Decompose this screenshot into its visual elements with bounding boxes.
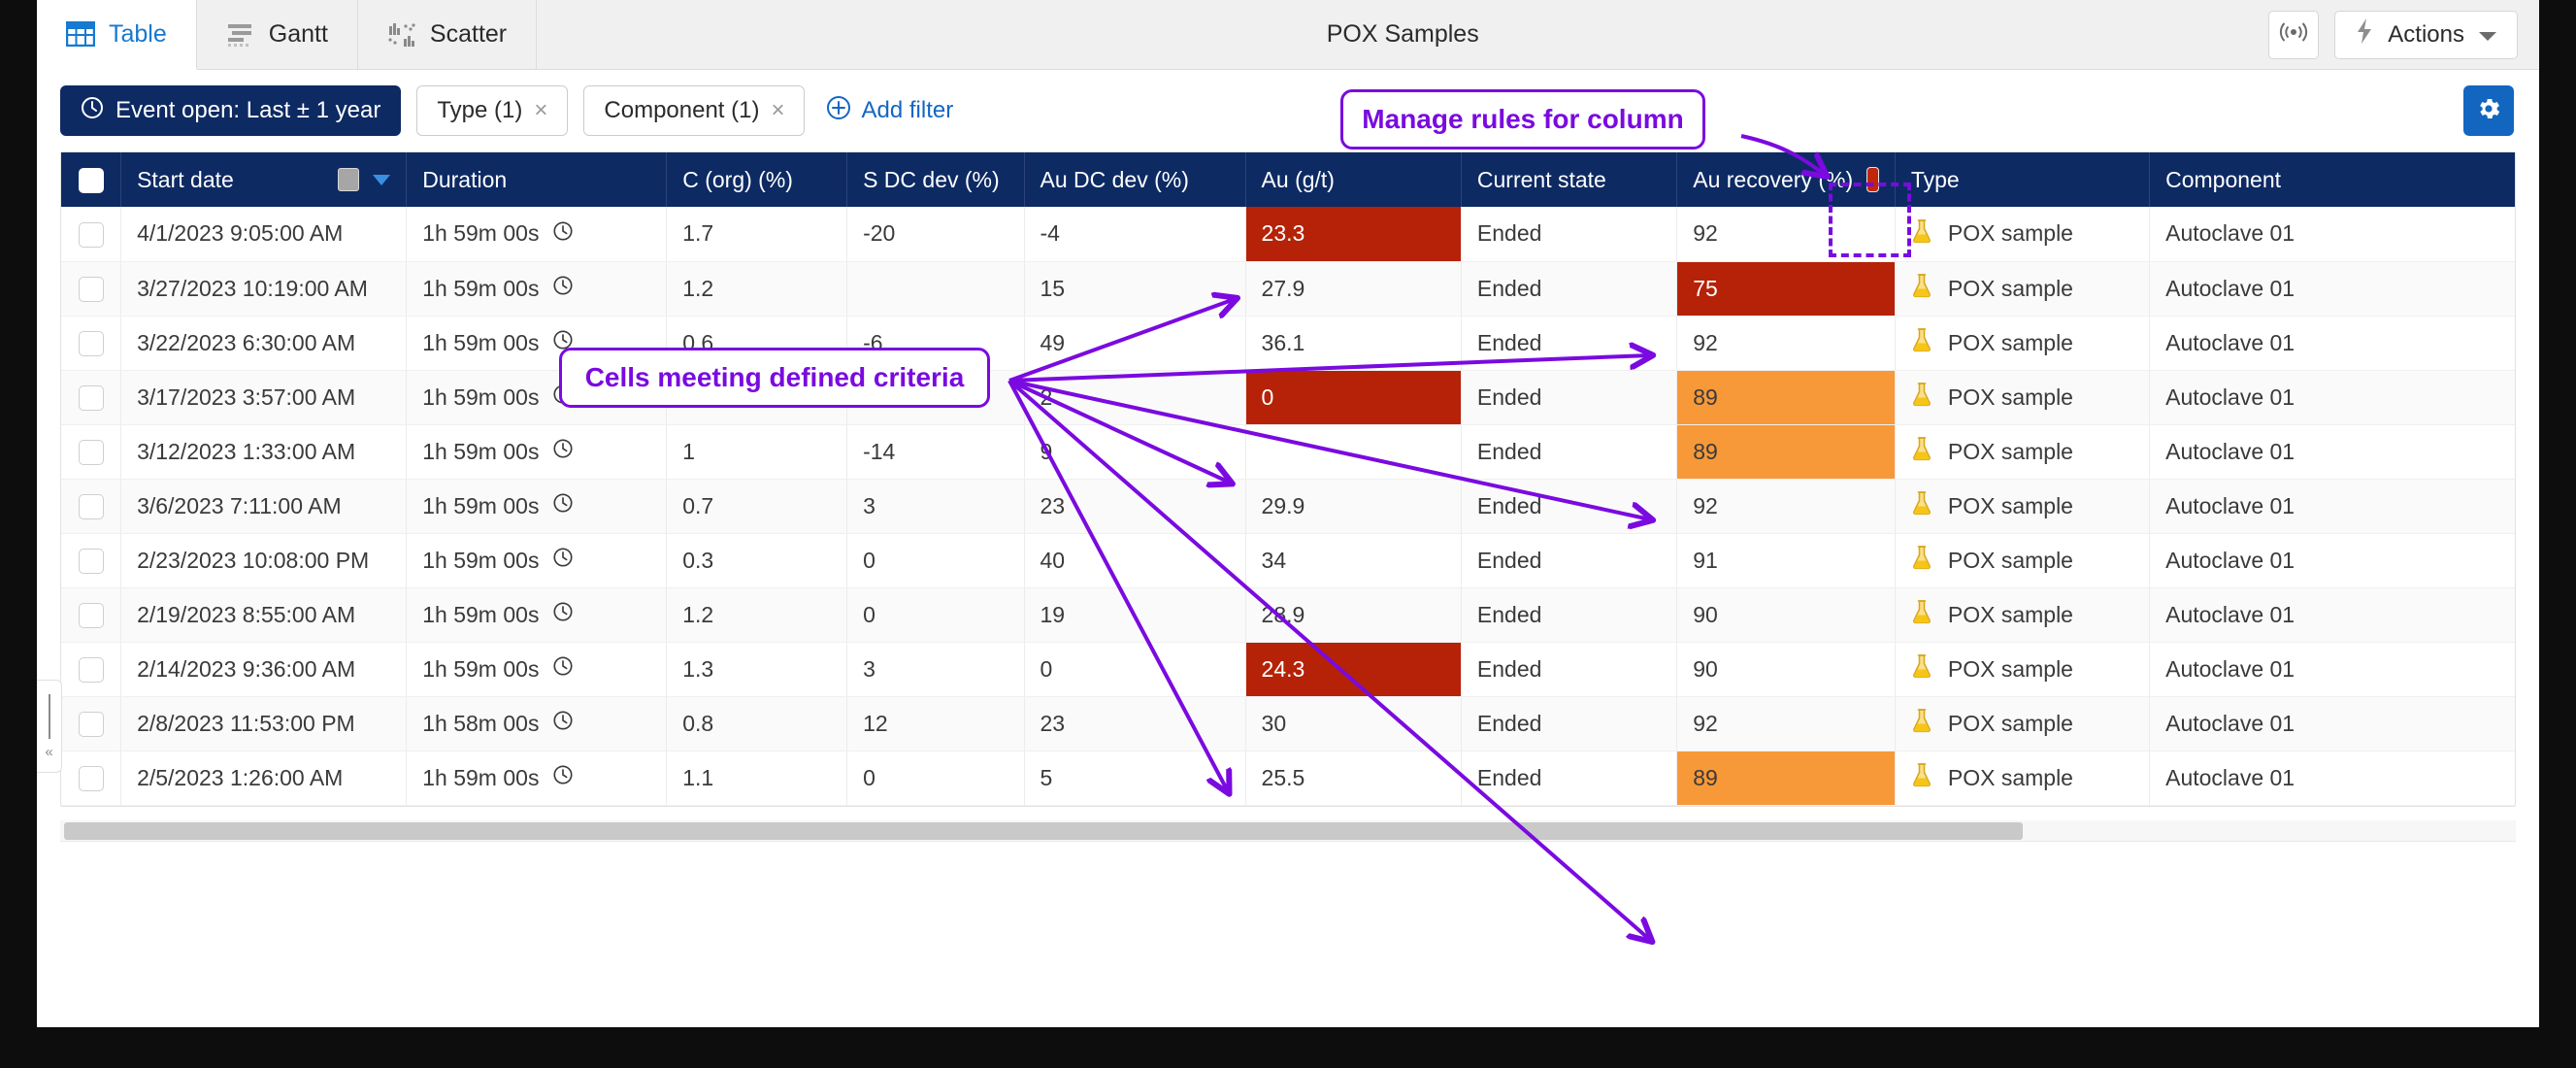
cell-type: POX sample [1895,533,2149,587]
cell-duration-text: 1h 59m 00s [422,384,539,411]
row-select-cell [61,316,121,370]
cell-current-state: Ended [1461,207,1676,261]
column-header-component-label: Component [2165,167,2281,192]
clock-icon [552,220,574,248]
row-checkbox[interactable] [79,385,104,411]
cell-au-recovery: 89 [1677,751,1896,805]
cell-au: 23.3 [1245,207,1461,261]
cell-duration-text: 1h 59m 00s [422,330,539,356]
close-icon[interactable]: × [771,99,784,122]
page-title-text: POX Samples [1327,20,1479,49]
chevron-down-icon [2478,21,2497,49]
plus-circle-icon [826,95,851,127]
table-row[interactable]: 3/6/2023 7:11:00 AM1h 59m 00s0.732329.9E… [61,479,2515,533]
column-header-au-recovery-label: Au recovery (%) [1693,167,1853,193]
filter-chip-type[interactable]: Type (1) × [416,85,568,136]
cell-au-dc-dev: 19 [1024,587,1245,642]
cell-au: 24.3 [1245,642,1461,696]
top-bar-actions: Actions [2268,0,2539,69]
table-row[interactable]: 2/19/2023 8:55:00 AM1h 59m 00s1.201928.9… [61,587,2515,642]
table-body: 4/1/2023 9:05:00 AM1h 59m 00s1.7-20-423.… [61,207,2515,805]
drag-bar-icon [49,694,50,739]
cell-au-dc-dev: 15 [1024,261,1245,316]
cell-current-state: Ended [1461,696,1676,751]
cell-au-recovery: 90 [1677,642,1896,696]
cell-current-state: Ended [1461,751,1676,805]
actions-button-label: Actions [2388,21,2464,49]
flask-icon [1911,218,1932,250]
sort-descending-icon[interactable] [373,175,390,185]
cell-duration-text: 1h 59m 00s [422,276,539,302]
clock-icon [552,384,574,411]
table-row[interactable]: 3/22/2023 6:30:00 AM1h 59m 00s0.6-64936.… [61,316,2515,370]
cell-type: POX sample [1895,261,2149,316]
cell-type: POX sample [1895,207,2149,261]
cell-start-date: 3/27/2023 10:19:00 AM [121,261,407,316]
table-icon [66,21,95,47]
view-tabstrip: Table Gantt [37,0,537,69]
cell-component: Autoclave 01 [2150,751,2515,805]
cell-duration: 1h 59m 00s [407,479,667,533]
cell-type: POX sample [1895,316,2149,370]
cell-au-recovery: 91 [1677,533,1896,587]
cell-s-dc-dev: -20 [847,207,1024,261]
cell-au: 0 [1245,370,1461,424]
row-checkbox[interactable] [79,440,104,465]
cell-component: Autoclave 01 [2150,370,2515,424]
row-select-cell [61,370,121,424]
row-select-cell [61,642,121,696]
grey-square-icon[interactable] [338,168,359,191]
table-row[interactable]: 3/12/2023 1:33:00 AM1h 59m 00s1-149Ended… [61,424,2515,479]
column-header-au-dc-dev-label: Au DC dev (%) [1040,167,1189,192]
cell-au-recovery: 89 [1677,424,1896,479]
cell-start-date: 2/19/2023 8:55:00 AM [121,587,407,642]
clock-icon [552,764,574,791]
table-row[interactable]: 3/17/2023 3:57:00 AM1h 59m 00s1.7-2020En… [61,370,2515,424]
column-header-duration[interactable]: Duration [407,152,667,207]
column-header-type-label: Type [1911,167,1960,192]
cell-type: POX sample [1895,642,2149,696]
cell-component: Autoclave 01 [2150,207,2515,261]
row-checkbox[interactable] [79,494,104,519]
lightning-icon [2355,17,2374,51]
cell-au-dc-dev: 49 [1024,316,1245,370]
flask-icon [1911,762,1932,793]
cell-s-dc-dev: 3 [847,479,1024,533]
cell-au [1245,424,1461,479]
cell-c-org: 1.7 [667,207,847,261]
scatter-icon [387,22,416,48]
column-header-duration-label: Duration [422,167,507,192]
cell-au-dc-dev: 2 [1024,370,1245,424]
cell-type-text: POX sample [1948,220,2073,247]
cell-duration: 1h 59m 00s [407,261,667,316]
gear-icon [2475,95,2502,127]
cell-type: POX sample [1895,479,2149,533]
row-select-cell [61,533,121,587]
horizontal-scrollbar[interactable] [60,820,2516,842]
cell-duration: 1h 59m 00s [407,370,667,424]
table-row[interactable]: 2/8/2023 11:53:00 PM1h 58m 00s0.8122330E… [61,696,2515,751]
row-checkbox[interactable] [79,603,104,628]
cell-component: Autoclave 01 [2150,642,2515,696]
cell-start-date: 2/14/2023 9:36:00 AM [121,642,407,696]
cell-type-text: POX sample [1948,656,2073,683]
cell-type-text: POX sample [1948,439,2073,465]
flask-icon [1911,273,1932,304]
cell-duration-text: 1h 59m 00s [422,220,539,247]
cell-au: 30 [1245,696,1461,751]
cell-current-state: Ended [1461,533,1676,587]
column-header-c-org-label: C (org) (%) [682,167,793,192]
cell-au: 34 [1245,533,1461,587]
cell-duration-text: 1h 59m 00s [422,439,539,465]
clock-icon [552,275,574,302]
filter-chip-type-label: Type (1) [437,97,522,124]
cell-c-org: 0.3 [667,533,847,587]
cell-type-text: POX sample [1948,765,2073,791]
select-all-checkbox[interactable] [79,168,104,193]
cell-component: Autoclave 01 [2150,479,2515,533]
red-square-rule-icon[interactable] [1866,167,1879,192]
cell-current-state: Ended [1461,370,1676,424]
cell-au-recovery: 92 [1677,207,1896,261]
table-header: Start date Duration C (org) (%) S DC dev… [61,152,2515,207]
table-row[interactable]: 2/23/2023 10:08:00 PM1h 59m 00s0.304034E… [61,533,2515,587]
column-header-s-dc-dev-label: S DC dev (%) [863,167,1000,192]
tab-table[interactable]: Table [37,0,197,70]
cell-duration-text: 1h 59m 00s [422,548,539,574]
cell-duration: 1h 59m 00s [407,207,667,261]
cell-au-recovery: 75 [1677,261,1896,316]
cell-type-text: POX sample [1948,493,2073,519]
table-row[interactable]: 2/14/2023 9:36:00 AM1h 59m 00s1.33024.3E… [61,642,2515,696]
column-header-component[interactable]: Component [2150,152,2515,207]
flask-icon [1911,436,1932,467]
cell-type: POX sample [1895,751,2149,805]
filter-bar: Event open: Last ± 1 year Type (1) × Com… [37,70,2539,151]
cell-type: POX sample [1895,370,2149,424]
filter-chip-component-label: Component (1) [604,97,759,124]
cell-duration-text: 1h 58m 00s [422,711,539,737]
cell-s-dc-dev: 0 [847,751,1024,805]
cell-type: POX sample [1895,424,2149,479]
clock-icon [552,601,574,628]
cell-c-org: 1.1 [667,751,847,805]
cell-component: Autoclave 01 [2150,533,2515,587]
cell-s-dc-dev: 0 [847,533,1024,587]
add-filter-button[interactable]: Add filter [826,95,953,127]
column-header-start-date[interactable]: Start date [121,152,407,207]
cell-start-date: 3/17/2023 3:57:00 AM [121,370,407,424]
top-bar: Table Gantt [37,0,2539,70]
cell-type-text: POX sample [1948,711,2073,737]
table-header-row: Start date Duration C (org) (%) S DC dev… [61,152,2515,207]
cell-start-date: 3/12/2023 1:33:00 AM [121,424,407,479]
cell-au-dc-dev: 9 [1024,424,1245,479]
cell-type: POX sample [1895,696,2149,751]
cell-start-date: 3/6/2023 7:11:00 AM [121,479,407,533]
flask-icon [1911,653,1932,684]
cell-au-recovery: 90 [1677,587,1896,642]
cell-type: POX sample [1895,587,2149,642]
cell-au-dc-dev: 23 [1024,696,1245,751]
cell-au-dc-dev: -4 [1024,207,1245,261]
cell-c-org: 1.2 [667,587,847,642]
cell-c-org: 0.6 [667,316,847,370]
cell-current-state: Ended [1461,642,1676,696]
column-header-au[interactable]: Au (g/t) [1245,152,1461,207]
clock-icon [552,438,574,465]
cell-start-date: 3/22/2023 6:30:00 AM [121,316,407,370]
table-row[interactable]: 3/27/2023 10:19:00 AM1h 59m 00s1.21527.9… [61,261,2515,316]
row-checkbox[interactable] [79,657,104,683]
cell-current-state: Ended [1461,587,1676,642]
cell-duration: 1h 59m 00s [407,642,667,696]
row-select-cell [61,424,121,479]
cell-duration: 1h 59m 00s [407,751,667,805]
cell-duration: 1h 59m 00s [407,424,667,479]
cell-duration: 1h 59m 00s [407,587,667,642]
cell-au-dc-dev: 40 [1024,533,1245,587]
cell-au: 36.1 [1245,316,1461,370]
cell-current-state: Ended [1461,261,1676,316]
cell-au-recovery: 89 [1677,370,1896,424]
cell-current-state: Ended [1461,316,1676,370]
cell-c-org: 1.2 [667,261,847,316]
row-checkbox[interactable] [79,277,104,302]
select-all-header [61,152,121,207]
row-select-cell [61,751,121,805]
cell-duration: 1h 59m 00s [407,316,667,370]
cell-type-text: POX sample [1948,602,2073,628]
row-select-cell [61,696,121,751]
cell-start-date: 2/23/2023 10:08:00 PM [121,533,407,587]
column-header-au-dc-dev[interactable]: Au DC dev (%) [1024,152,1245,207]
column-header-current-state[interactable]: Current state [1461,152,1676,207]
table-row[interactable]: 4/1/2023 9:05:00 AM1h 59m 00s1.7-20-423.… [61,207,2515,261]
filter-chip-event-open[interactable]: Event open: Last ± 1 year [60,85,401,136]
cell-component: Autoclave 01 [2150,696,2515,751]
cell-c-org: 1 [667,424,847,479]
gantt-icon [226,22,255,48]
application-window: Table Gantt [37,0,2539,1027]
column-header-c-org[interactable]: C (org) (%) [667,152,847,207]
column-header-type[interactable]: Type [1895,152,2149,207]
broadcast-button[interactable] [2268,11,2319,59]
samples-table: Start date Duration C (org) (%) S DC dev… [61,152,2515,806]
cell-au: 25.5 [1245,751,1461,805]
cell-start-date: 2/5/2023 1:26:00 AM [121,751,407,805]
cell-c-org: 0.7 [667,479,847,533]
cell-au: 28.9 [1245,587,1461,642]
tab-scatter-label: Scatter [430,20,507,49]
add-filter-label: Add filter [861,97,953,124]
cell-start-date: 4/1/2023 9:05:00 AM [121,207,407,261]
flask-icon [1911,708,1932,739]
cell-type-text: POX sample [1948,330,2073,356]
flask-icon [1911,382,1932,413]
cell-current-state: Ended [1461,424,1676,479]
clock-icon [552,547,574,574]
row-select-cell [61,261,121,316]
cell-s-dc-dev: -14 [847,424,1024,479]
row-select-cell [61,587,121,642]
flask-icon [1911,327,1932,358]
cell-duration-text: 1h 59m 00s [422,765,539,791]
panel-collapse-handle[interactable]: « [37,680,62,773]
clock-icon [552,710,574,737]
tab-gantt-label: Gantt [269,20,328,49]
cell-s-dc-dev: 0 [847,587,1024,642]
cell-type-text: POX sample [1948,276,2073,302]
cell-duration-text: 1h 59m 00s [422,656,539,683]
cell-au-recovery: 92 [1677,316,1896,370]
cell-component: Autoclave 01 [2150,424,2515,479]
row-checkbox[interactable] [79,766,104,791]
row-checkbox[interactable] [79,712,104,737]
cell-c-org: 1.3 [667,642,847,696]
cell-s-dc-dev: -20 [847,370,1024,424]
broadcast-icon [2279,20,2308,49]
horizontal-scrollbar-thumb[interactable] [64,822,2023,840]
page-title: POX Samples [537,0,2268,69]
cell-s-dc-dev [847,261,1024,316]
cell-c-org: 1.7 [667,370,847,424]
table-settings-button[interactable] [2463,85,2514,136]
column-header-current-state-label: Current state [1477,167,1606,192]
row-checkbox[interactable] [79,549,104,574]
row-checkbox[interactable] [79,222,104,248]
cell-current-state: Ended [1461,479,1676,533]
samples-table-container: Start date Duration C (org) (%) S DC dev… [60,151,2516,807]
cell-duration: 1h 58m 00s [407,696,667,751]
actions-button[interactable]: Actions [2334,11,2518,59]
tab-table-label: Table [109,20,167,49]
clock-icon [552,329,574,356]
chevron-left-icon: « [45,745,52,759]
cell-c-org: 0.8 [667,696,847,751]
column-header-start-date-label: Start date [137,167,234,193]
cell-duration-text: 1h 59m 00s [422,493,539,519]
cell-duration: 1h 59m 00s [407,533,667,587]
clock-icon [552,655,574,683]
column-header-au-label: Au (g/t) [1262,167,1335,192]
flask-icon [1911,490,1932,521]
flask-icon [1911,545,1932,576]
column-header-au-recovery[interactable]: Au recovery (%) [1677,152,1896,207]
cell-type-text: POX sample [1948,384,2073,411]
cell-s-dc-dev: -6 [847,316,1024,370]
cell-au-dc-dev: 5 [1024,751,1245,805]
row-checkbox[interactable] [79,331,104,356]
row-select-cell [61,479,121,533]
clock-icon [552,492,574,519]
cell-duration-text: 1h 59m 00s [422,602,539,628]
filter-chip-component[interactable]: Component (1) × [583,85,805,136]
cell-component: Autoclave 01 [2150,316,2515,370]
cell-s-dc-dev: 12 [847,696,1024,751]
cell-s-dc-dev: 3 [847,642,1024,696]
cell-au: 27.9 [1245,261,1461,316]
cell-au-dc-dev: 0 [1024,642,1245,696]
cell-start-date: 2/8/2023 11:53:00 PM [121,696,407,751]
tab-gantt[interactable]: Gantt [197,0,358,69]
filter-chip-event-open-label: Event open: Last ± 1 year [116,97,380,124]
close-icon[interactable]: × [534,99,547,122]
clock-icon [81,96,104,126]
cell-type-text: POX sample [1948,548,2073,574]
cell-au: 29.9 [1245,479,1461,533]
flask-icon [1911,599,1932,630]
table-row[interactable]: 2/5/2023 1:26:00 AM1h 59m 00s1.10525.5En… [61,751,2515,805]
tab-scatter[interactable]: Scatter [358,0,537,69]
cell-au-dc-dev: 23 [1024,479,1245,533]
cell-au-recovery: 92 [1677,696,1896,751]
cell-component: Autoclave 01 [2150,261,2515,316]
column-header-s-dc-dev[interactable]: S DC dev (%) [847,152,1024,207]
cell-component: Autoclave 01 [2150,587,2515,642]
row-select-cell [61,207,121,261]
cell-au-recovery: 92 [1677,479,1896,533]
